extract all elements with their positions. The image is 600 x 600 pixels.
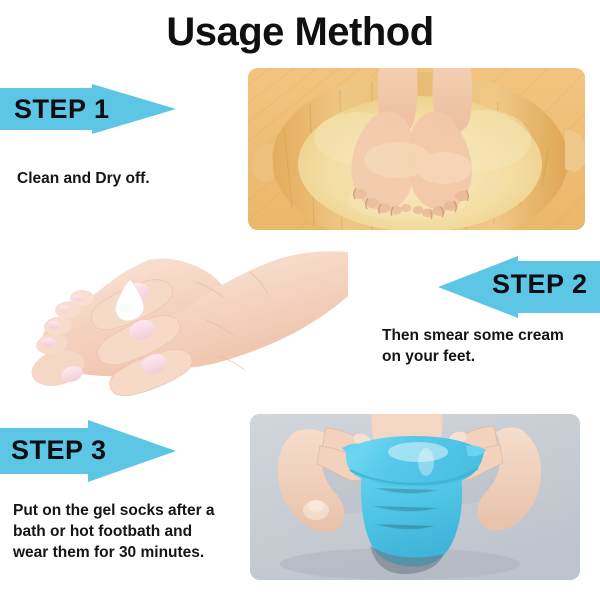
step-3-photo-blue-gel-sock bbox=[250, 414, 580, 580]
step-1-photo-feet-in-footbath bbox=[248, 68, 585, 230]
usage-method-infographic: Usage Method bbox=[0, 0, 600, 600]
step-2-photo-cream-on-foot bbox=[0, 238, 348, 410]
step-1-label: STEP 1 bbox=[14, 94, 110, 125]
step-3-caption: Put on the gel socks after a bath or hot… bbox=[13, 500, 253, 563]
page-title: Usage Method bbox=[0, 8, 600, 56]
step-1-caption: Clean and Dry off. bbox=[17, 168, 227, 189]
step-3-label: STEP 3 bbox=[11, 435, 107, 466]
step-2-caption: Then smear some cream on your feet. bbox=[382, 325, 597, 367]
step-2-label: STEP 2 bbox=[492, 269, 588, 300]
